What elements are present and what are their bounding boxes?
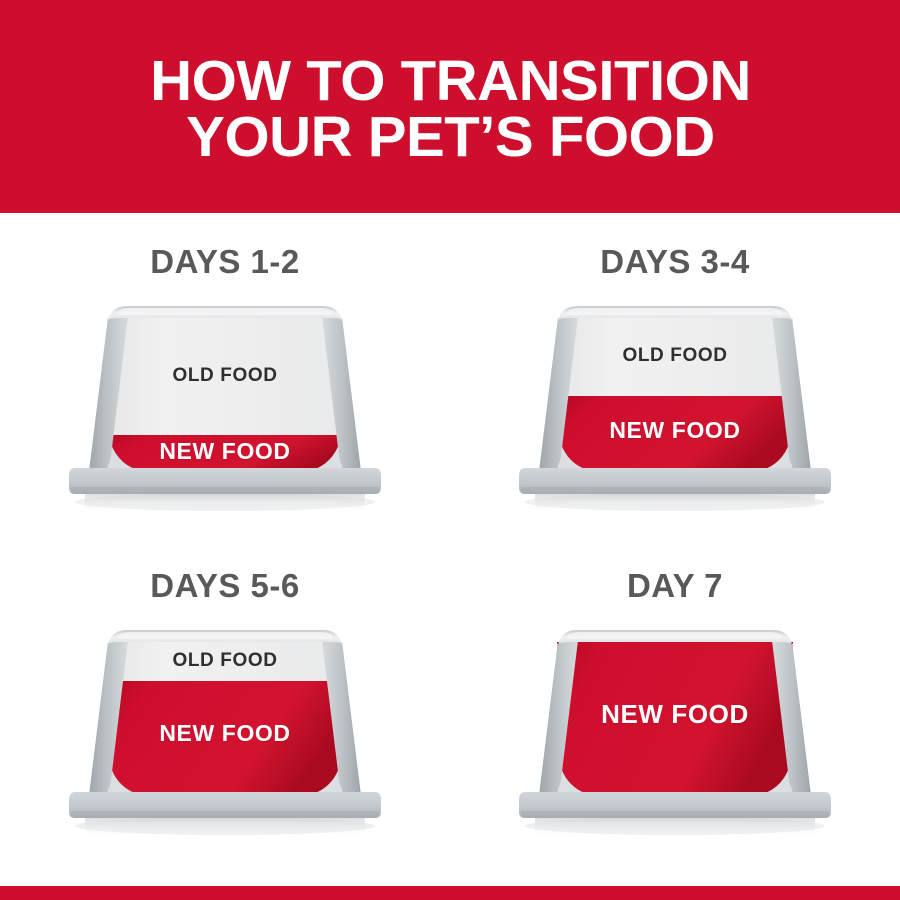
- bowl-svg: [45, 620, 405, 850]
- bowl-rim-highlight: [567, 308, 783, 315]
- step-card-days-1-2: DAYS 1-2 OLD FOODNEW FOOD: [0, 213, 450, 549]
- page-title: HOW TO TRANSITION YOUR PET’S FOOD: [150, 54, 751, 166]
- bowl-illustration-days-1-2: OLD FOODNEW FOOD: [45, 296, 405, 526]
- step-day-label: DAYS 1-2: [0, 243, 450, 281]
- bowl-contents: [107, 318, 343, 476]
- bowl-illustration-day-7: NEW FOOD: [495, 620, 855, 850]
- bowl-contents: [557, 642, 793, 800]
- bowl-reflection: [85, 493, 365, 513]
- bowl-illustration-days-3-4: OLD FOODNEW FOOD: [495, 296, 855, 526]
- step-day-label: DAY 7: [450, 567, 900, 605]
- footer-accent-bar: [0, 886, 900, 900]
- infographic-page: HOW TO TRANSITION YOUR PET’S FOOD DAYS 1…: [0, 0, 900, 900]
- bowl-illustration-days-5-6: OLD FOODNEW FOOD: [45, 620, 405, 850]
- bowl-reflection: [535, 493, 815, 513]
- bowl-svg: [45, 296, 405, 526]
- steps-grid: DAYS 1-2 OLD FOODNEW FOOD DAYS 3-4 OLD F…: [0, 213, 900, 886]
- bowl-svg: [495, 620, 855, 850]
- bowl-contents: [107, 642, 343, 800]
- header-banner: HOW TO TRANSITION YOUR PET’S FOOD: [0, 0, 900, 213]
- bowl-contents: [557, 318, 793, 476]
- bowl-reflection: [535, 817, 815, 837]
- step-day-label: DAYS 5-6: [0, 567, 450, 605]
- bowl-svg: [495, 296, 855, 526]
- bowl-base-shade: [71, 811, 379, 818]
- step-card-day-7: DAY 7 NEW FOOD: [450, 537, 900, 873]
- step-card-days-5-6: DAYS 5-6 OLD FOODNEW FOOD: [0, 537, 450, 873]
- bowl-rim-highlight: [117, 308, 333, 315]
- bowl-base-shade: [521, 811, 829, 818]
- bowl-base-shade: [521, 487, 829, 494]
- new-food-fill: [107, 681, 343, 800]
- bowl-base-shade: [71, 487, 379, 494]
- new-food-fill: [557, 396, 793, 476]
- new-food-fill: [557, 642, 793, 800]
- bowl-rim-highlight: [567, 632, 783, 639]
- step-day-label: DAYS 3-4: [450, 243, 900, 281]
- step-card-days-3-4: DAYS 3-4 OLD FOODNEW FOOD: [450, 213, 900, 549]
- bowl-rim-highlight: [117, 632, 333, 639]
- title-line-1: HOW TO TRANSITION: [150, 54, 751, 110]
- title-line-2: YOUR PET’S FOOD: [150, 110, 751, 166]
- bowl-reflection: [85, 817, 365, 837]
